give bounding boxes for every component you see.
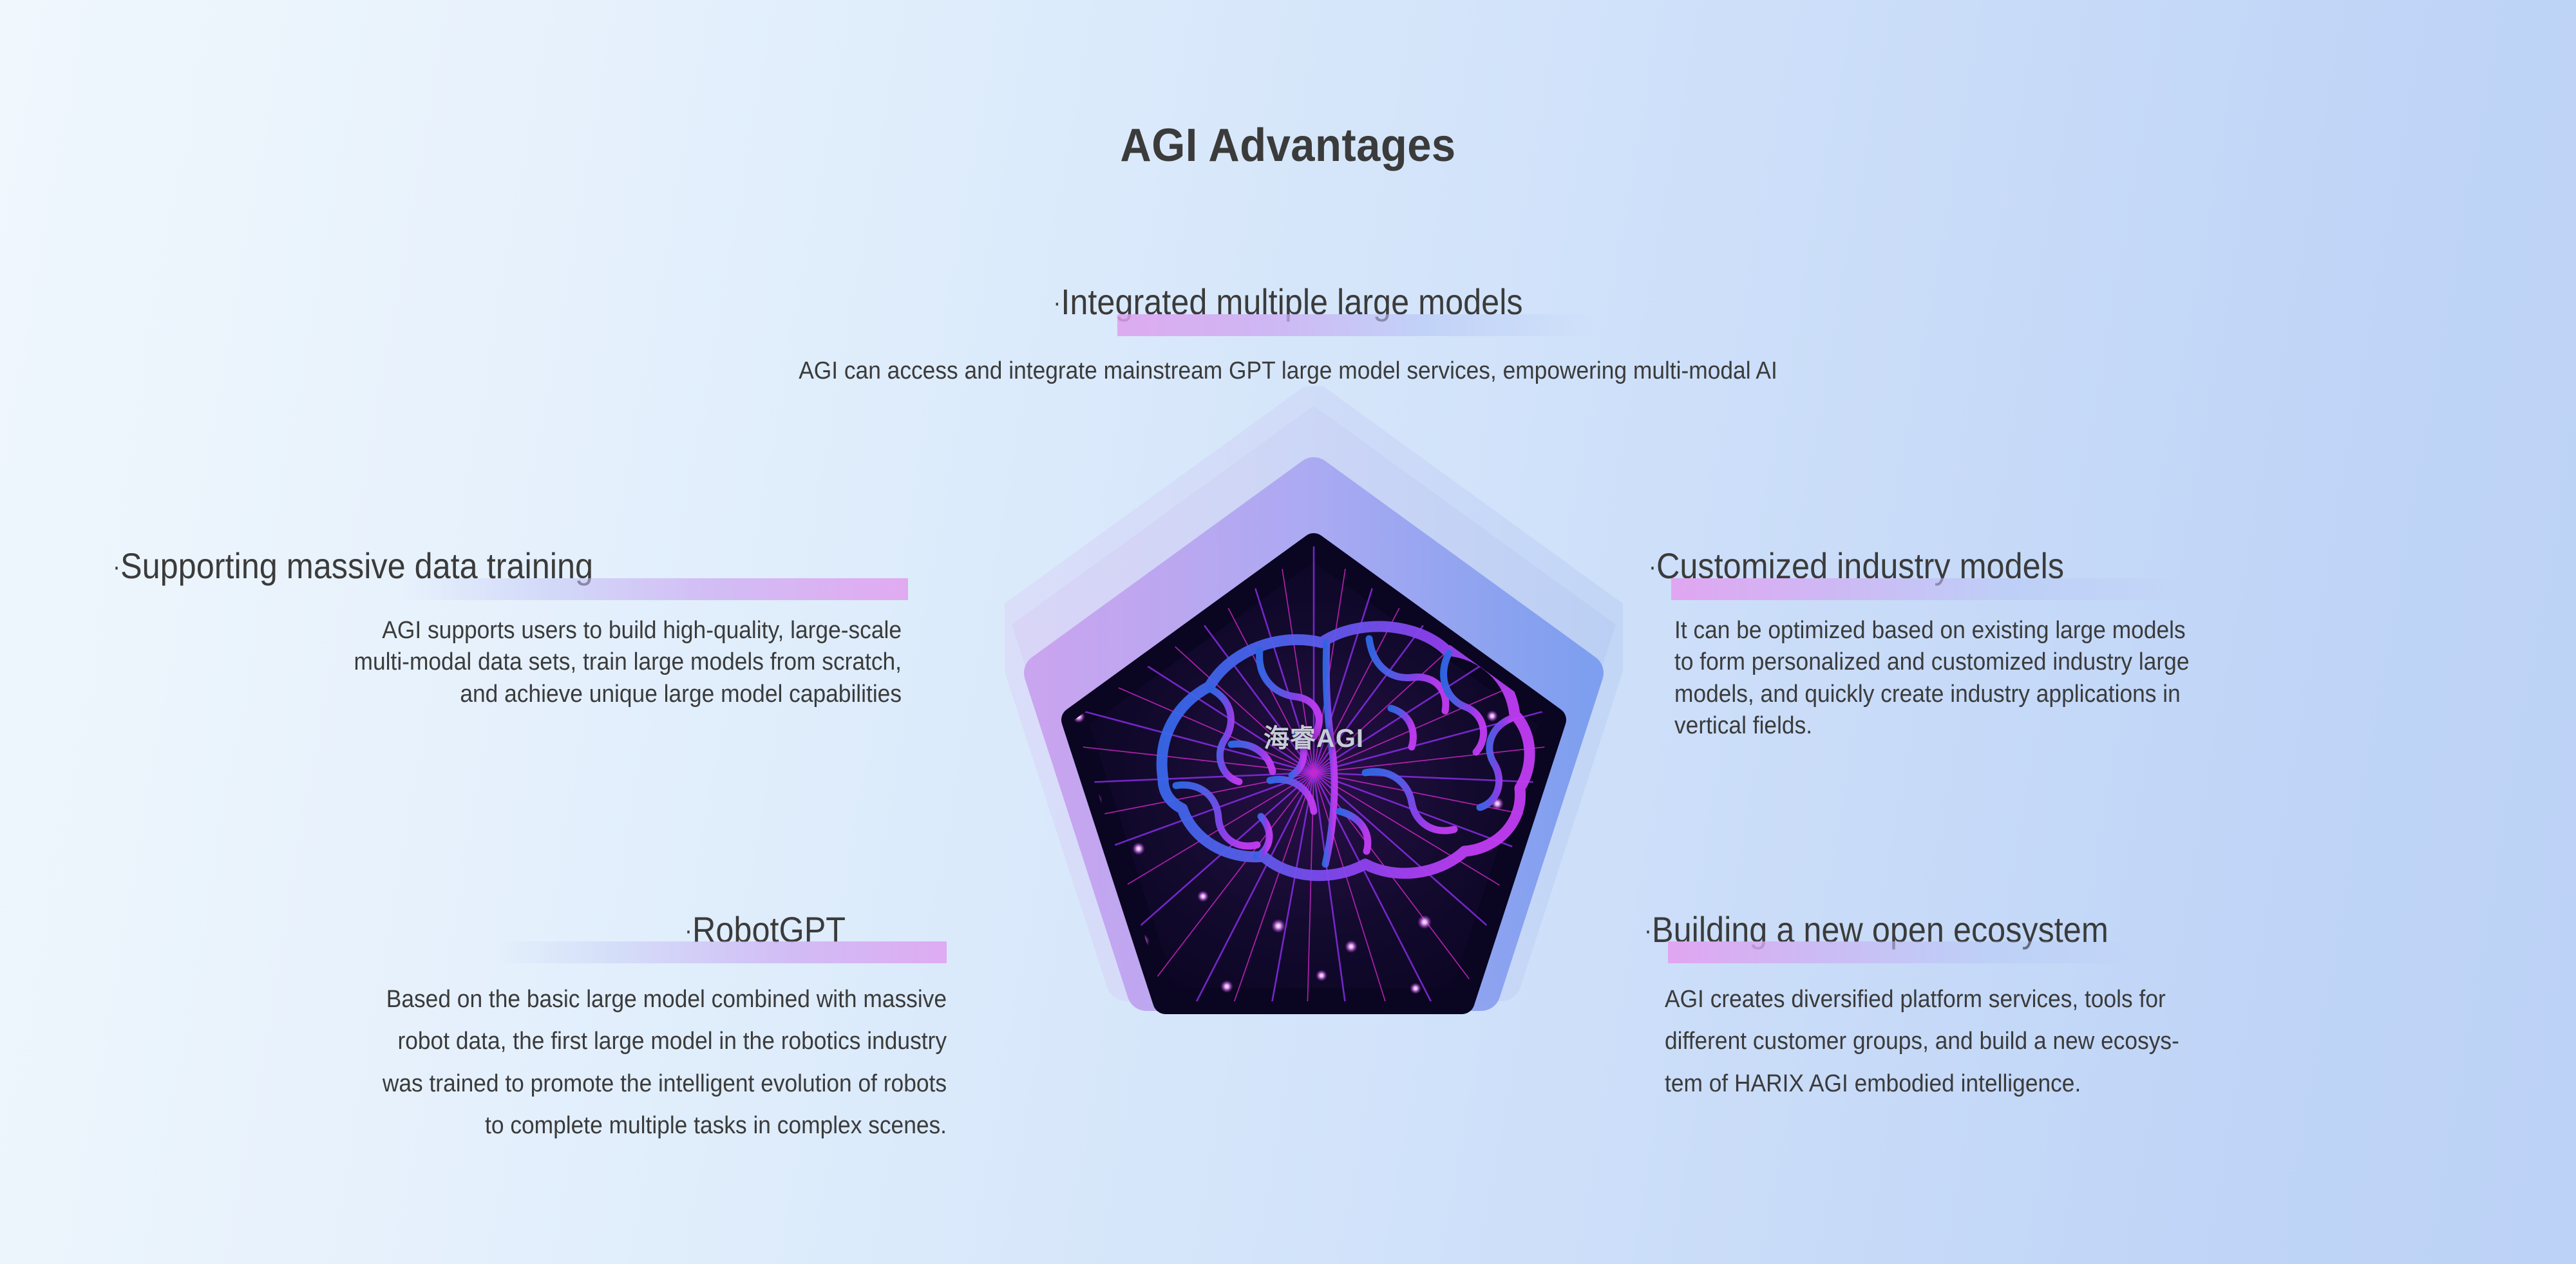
page-title: AGI Advantages: [90, 119, 2486, 172]
body-line: AGI creates diversified platform service…: [1665, 979, 2467, 1021]
infographic-canvas: AGI Advantages: [0, 0, 2576, 1264]
section-body-open-ecosystem: AGI creates diversified platform service…: [1665, 979, 2467, 1105]
body-line: vertical fields.: [1674, 710, 2471, 742]
body-line: tem of HARIX AGI embodied intelligence.: [1665, 1063, 2467, 1105]
body-line: models, and quickly create industry appl…: [1674, 679, 2471, 710]
body-line: Based on the basic large model combined …: [102, 979, 947, 1021]
top-heading-highlight: [1117, 314, 1594, 336]
section-body-integrated-models: AGI can access and integrate mainstream …: [90, 355, 2486, 387]
bullet-icon: ·: [1644, 916, 1652, 945]
pentagon-brain-emblem: 海睿AGI: [1005, 386, 1623, 1108]
body-line: to form personalized and customized indu…: [1674, 646, 2471, 678]
bullet-icon: ·: [685, 916, 692, 945]
section-body-robotgpt: Based on the basic large model combined …: [102, 979, 947, 1147]
body-line: robot data, the first large model in the…: [102, 1021, 947, 1062]
section-body-massive-data-training: AGI supports users to build high-quality…: [99, 615, 902, 710]
right-lower-heading-highlight: [1668, 941, 2151, 963]
body-line: was trained to promote the intelligent e…: [102, 1063, 947, 1105]
bullet-icon: ·: [113, 552, 120, 581]
body-line: and achieve unique large model capabilit…: [99, 679, 902, 710]
body-line: It can be optimized based on existing la…: [1674, 615, 2471, 646]
body-line: different customer groups, and build a n…: [1665, 1021, 2467, 1062]
bullet-icon: ·: [1649, 552, 1656, 581]
body-line: to complete multiple tasks in complex sc…: [102, 1105, 947, 1147]
section-body-customized-industry-models: It can be optimized based on existing la…: [1674, 615, 2471, 742]
body-line: multi-modal data sets, train large model…: [99, 646, 902, 678]
left-upper-heading-highlight: [399, 578, 908, 600]
left-lower-heading-highlight: [496, 941, 947, 963]
right-upper-heading-highlight: [1671, 578, 2193, 600]
body-line: AGI supports users to build high-quality…: [99, 615, 902, 646]
bullet-icon: ·: [1053, 288, 1061, 317]
